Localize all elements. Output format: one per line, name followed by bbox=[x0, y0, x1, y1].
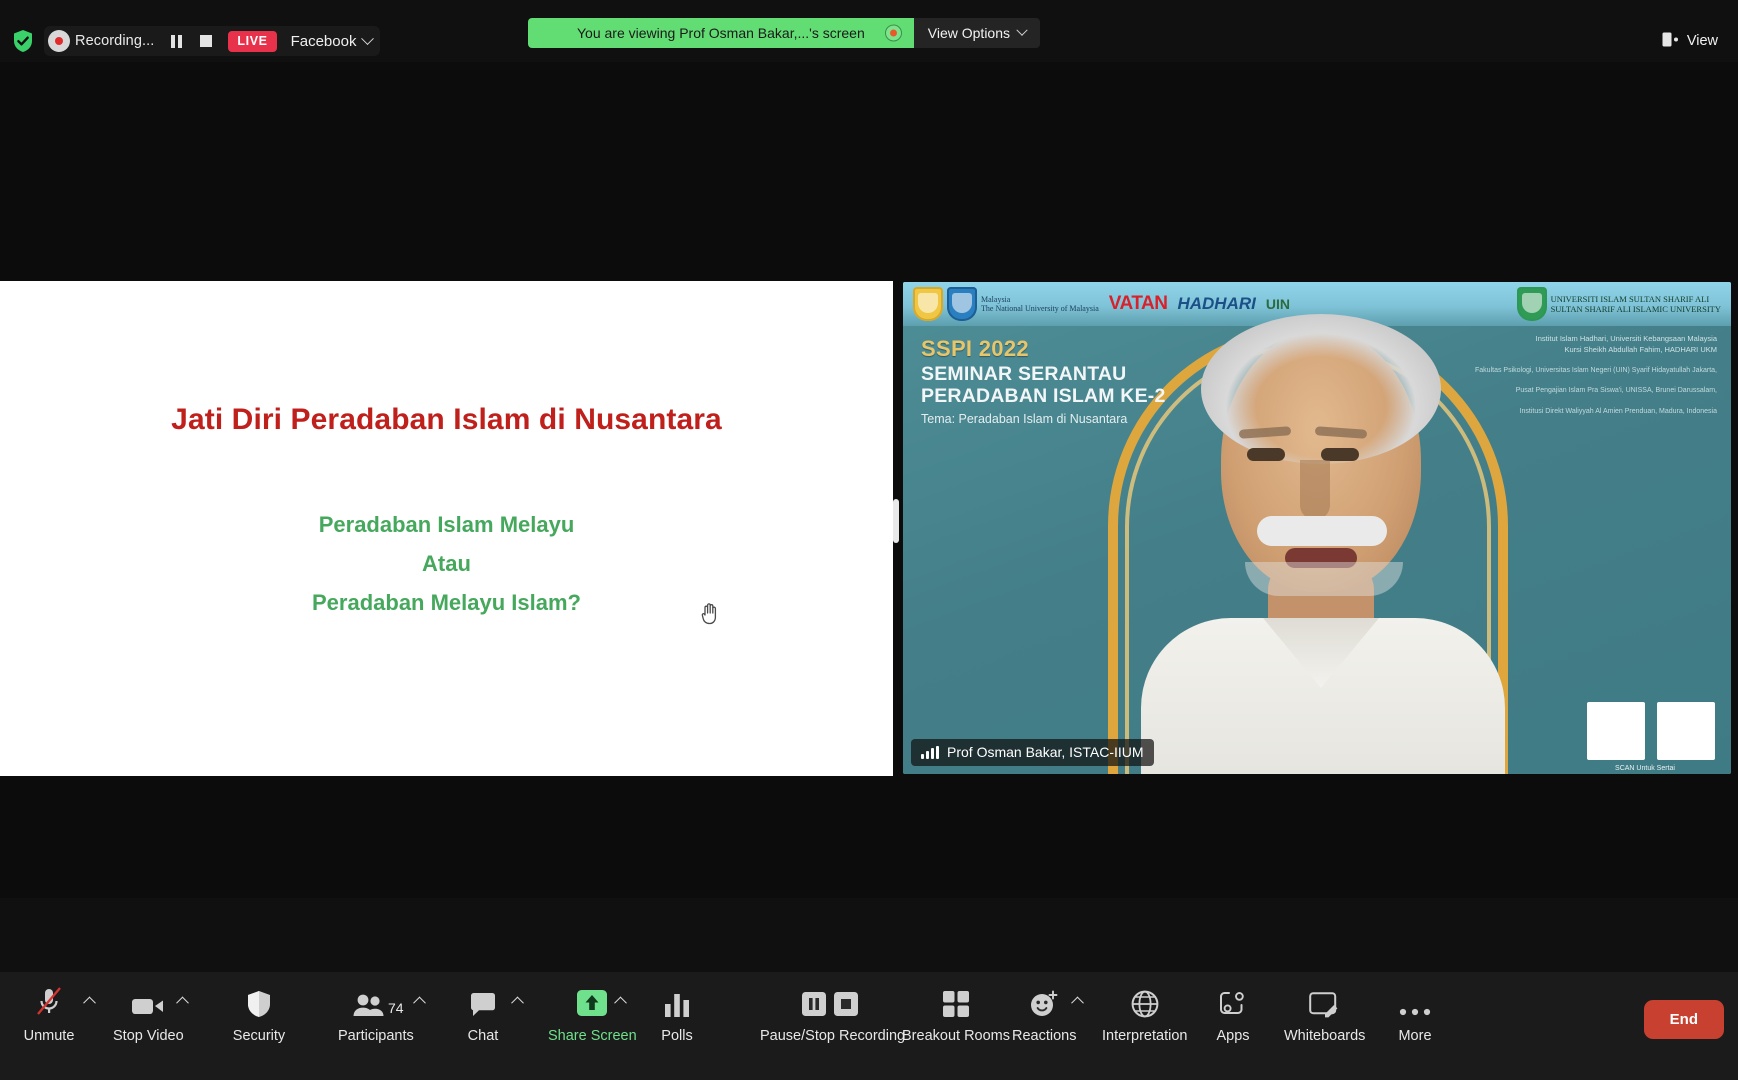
stop-icon[interactable] bbox=[196, 31, 216, 51]
qr-code-1 bbox=[1587, 702, 1645, 760]
view-button[interactable]: View bbox=[1652, 26, 1728, 56]
whiteboards-button[interactable]: Whiteboards bbox=[1284, 984, 1365, 1044]
unmute-label: Unmute bbox=[24, 1028, 75, 1044]
qr-caption: SCAN Untuk Sertai bbox=[1575, 765, 1715, 772]
share-options-caret[interactable] bbox=[613, 994, 627, 1008]
record-dot-icon bbox=[885, 25, 902, 42]
apps-button[interactable]: Apps bbox=[1206, 984, 1260, 1044]
hand-cursor-icon bbox=[700, 601, 720, 625]
top-bar-left-controls: Recording... LIVE Facebook bbox=[8, 26, 380, 56]
share-up-arrow-icon bbox=[577, 984, 607, 1018]
breakout-rooms-label: Breakout Rooms bbox=[902, 1028, 1010, 1044]
meeting-stage: Jati Diri Peradaban Islam di Nusantara P… bbox=[0, 62, 1738, 898]
mic-muted-icon bbox=[34, 984, 64, 1018]
stop-video-button[interactable]: Stop Video bbox=[113, 984, 184, 1044]
whiteboard-icon bbox=[1309, 984, 1341, 1018]
apps-icon bbox=[1218, 984, 1248, 1018]
polls-label: Polls bbox=[661, 1028, 692, 1044]
interpretation-label: Interpretation bbox=[1102, 1028, 1187, 1044]
stop-video-label: Stop Video bbox=[113, 1028, 184, 1044]
apps-label: Apps bbox=[1216, 1028, 1249, 1044]
unissa-logo-subtext: SULTAN SHARIF ALI ISLAMIC UNIVERSITY bbox=[1551, 304, 1721, 314]
top-bar: Recording... LIVE Facebook You are viewi… bbox=[0, 0, 1738, 62]
ukm-logo-text: Malaysia bbox=[981, 295, 1010, 304]
pause-icon[interactable] bbox=[166, 31, 186, 51]
view-options-label: View Options bbox=[928, 25, 1010, 41]
event-title-line-2: PERADABAN ISLAM KE-2 bbox=[921, 386, 1166, 408]
livestream-platform-label: Facebook bbox=[291, 33, 357, 50]
video-tile-active-speaker[interactable]: Malaysia The National University of Mala… bbox=[903, 282, 1731, 774]
share-screen-button[interactable]: Share Screen bbox=[548, 984, 637, 1044]
grid-squares-icon bbox=[942, 984, 970, 1018]
polls-button[interactable]: Polls bbox=[650, 984, 704, 1044]
chat-label: Chat bbox=[468, 1028, 499, 1044]
layout-view-icon bbox=[1662, 32, 1679, 51]
livestream-platform-selector[interactable]: Facebook bbox=[291, 33, 373, 50]
organiser-line-3: Fakultas Psikologi, Universitas Islam Ne… bbox=[1475, 366, 1717, 377]
chat-button[interactable]: Chat bbox=[456, 984, 510, 1044]
qr-code-2 bbox=[1657, 702, 1715, 760]
event-title-block: SSPI 2022 SEMINAR SERANTAU PERADABAN ISL… bbox=[921, 336, 1166, 426]
participants-count: 74 bbox=[388, 1000, 404, 1016]
reactions-button[interactable]: Reactions bbox=[1012, 984, 1076, 1044]
chevron-down-icon bbox=[362, 32, 375, 45]
unissa-logo-text: UNIVERSITI ISLAM SULTAN SHARIF ALI bbox=[1551, 294, 1710, 304]
unmute-button[interactable]: Unmute bbox=[22, 984, 76, 1044]
ukm-logo-subtext: The National University of Malaysia bbox=[981, 304, 1099, 313]
screen-share-banner: You are viewing Prof Osman Bakar,...'s s… bbox=[528, 18, 1040, 48]
organiser-line-5: Institusi Direkt Waliyyah Al Amien Prend… bbox=[1475, 407, 1717, 418]
signal-bars-icon bbox=[921, 746, 939, 759]
viewing-screen-banner: You are viewing Prof Osman Bakar,...'s s… bbox=[528, 18, 914, 48]
participants-options-caret[interactable] bbox=[412, 994, 426, 1008]
security-button[interactable]: Security bbox=[232, 984, 286, 1044]
organisers-block: Institut Islam Hadhari, Universiti Keban… bbox=[1475, 334, 1717, 417]
shared-screen-content[interactable]: Jati Diri Peradaban Islam di Nusantara P… bbox=[0, 281, 893, 776]
event-theme: Tema: Peradaban Islam di Nusantara bbox=[921, 412, 1166, 426]
organiser-line-4: Pusat Pengajian Islam Pra Siswa'i, UNISS… bbox=[1475, 386, 1717, 397]
slide-line-3: Peradaban Melayu Islam? bbox=[0, 590, 893, 616]
share-screen-label: Share Screen bbox=[548, 1028, 637, 1044]
interpretation-button[interactable]: Interpretation bbox=[1102, 984, 1187, 1044]
recording-controls-group: Recording... LIVE Facebook bbox=[44, 26, 380, 56]
shield-icon bbox=[246, 984, 272, 1018]
chat-options-caret[interactable] bbox=[510, 994, 524, 1008]
event-code: SSPI 2022 bbox=[921, 336, 1166, 362]
chat-bubble-icon bbox=[469, 984, 497, 1018]
bar-chart-icon bbox=[663, 984, 691, 1018]
breakout-rooms-button[interactable]: Breakout Rooms bbox=[902, 984, 1010, 1044]
participant-name-label: Prof Osman Bakar, ISTAC-IIUM bbox=[947, 744, 1144, 760]
record-dot-icon[interactable] bbox=[48, 30, 70, 52]
participant-name-badge: Prof Osman Bakar, ISTAC-IIUM bbox=[911, 739, 1154, 766]
security-label: Security bbox=[233, 1028, 285, 1044]
zoom-meeting-window: Recording... LIVE Facebook You are viewi… bbox=[0, 0, 1738, 1080]
video-camera-icon bbox=[131, 984, 165, 1018]
live-badge: LIVE bbox=[228, 31, 276, 52]
audio-options-caret[interactable] bbox=[82, 994, 96, 1008]
view-button-label: View bbox=[1687, 33, 1718, 49]
participant-video-image bbox=[1135, 310, 1507, 774]
recording-button[interactable]: Pause/Stop Recording bbox=[760, 984, 905, 1044]
event-title-line-1: SEMINAR SERANTAU bbox=[921, 364, 1166, 386]
recording-label: Pause/Stop Recording bbox=[760, 1028, 905, 1044]
shield-check-icon[interactable] bbox=[8, 26, 38, 56]
video-options-caret[interactable] bbox=[175, 994, 189, 1008]
organiser-line-2: Kursi Sheikh Abdullah Fahim, HADHARI UKM bbox=[1475, 345, 1717, 356]
ukm-logo: Malaysia The National University of Mala… bbox=[913, 286, 1099, 322]
ellipsis-icon bbox=[1398, 984, 1432, 1018]
organiser-line-1: Institut Islam Hadhari, Universiti Keban… bbox=[1475, 334, 1717, 345]
end-meeting-button[interactable]: End bbox=[1644, 1000, 1724, 1039]
drag-handle-icon[interactable] bbox=[893, 499, 899, 543]
more-button[interactable]: More bbox=[1388, 984, 1442, 1044]
reactions-options-caret[interactable] bbox=[1070, 994, 1084, 1008]
globe-icon bbox=[1131, 984, 1159, 1018]
slide-line-1: Peradaban Islam Melayu bbox=[0, 512, 893, 538]
smiley-plus-icon bbox=[1029, 984, 1059, 1018]
qr-code-row bbox=[1587, 702, 1715, 760]
recording-status-label: Recording... bbox=[75, 33, 154, 49]
more-label: More bbox=[1398, 1028, 1431, 1044]
meeting-controls-toolbar: Unmute Stop Video Security bbox=[0, 972, 1738, 1080]
unissa-logo: UNIVERSITI ISLAM SULTAN SHARIF ALI SULTA… bbox=[1517, 286, 1721, 322]
whiteboards-label: Whiteboards bbox=[1284, 1028, 1365, 1044]
view-options-button[interactable]: View Options bbox=[914, 18, 1040, 48]
reactions-label: Reactions bbox=[1012, 1028, 1076, 1044]
slide-title: Jati Diri Peradaban Islam di Nusantara bbox=[0, 403, 893, 437]
viewing-screen-text: You are viewing Prof Osman Bakar,...'s s… bbox=[577, 25, 865, 41]
chevron-down-icon bbox=[1016, 25, 1027, 36]
slide-line-2: Atau bbox=[0, 551, 893, 577]
pause-stop-icon bbox=[798, 984, 868, 1018]
participants-label: Participants bbox=[338, 1028, 414, 1044]
